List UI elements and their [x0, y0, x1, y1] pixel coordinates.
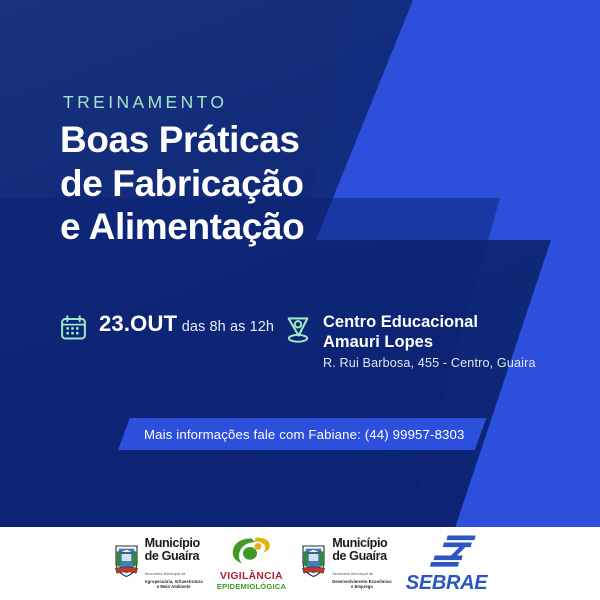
- venue-name: Centro Educacional Amauri Lopes: [323, 312, 536, 352]
- sponsor-logo-footer: Município de Guaíra Secretaria Municipal…: [0, 527, 600, 600]
- venue-address: R. Rui Barbosa, 455 - Centro, Guaira: [323, 356, 536, 370]
- logo-sebrae: SEBRAE: [406, 534, 488, 593]
- coat-of-arms-icon: [300, 543, 327, 584]
- logo-municipio-desenvolvimento-text: Município de Guaíra Secretaria Municipal…: [332, 537, 392, 589]
- logo-subtitle-bold-line-2: e Meio Ambiente: [145, 584, 203, 589]
- headline-line-3: e Alimentação: [60, 205, 480, 249]
- logo-vigilancia-word-1: VIGILÂNCIA: [220, 572, 283, 582]
- logo-subtitle-bold-line-2: e Emprego: [332, 584, 392, 589]
- headline-line-2: de Fabricação: [60, 162, 480, 206]
- map-pin-icon: [285, 314, 311, 350]
- event-date-block: 23.OUT das 8h as 12h: [60, 312, 285, 346]
- logo-municipio-agropecuaria-text: Município de Guaíra Secretaria Municipal…: [145, 537, 203, 589]
- event-location-block: Centro Educacional Amauri Lopes R. Rui B…: [285, 312, 536, 372]
- logo-sebrae-word: SEBRAE: [406, 573, 488, 593]
- event-location-text: Centro Educacional Amauri Lopes R. Rui B…: [323, 312, 536, 372]
- logo-title: Município de Guaíra: [332, 537, 392, 563]
- event-details-row: 23.OUT das 8h as 12h Centro Educacional: [60, 312, 560, 372]
- venue-name-line-2: Amauri Lopes: [323, 332, 536, 352]
- logo-vigilancia-word-2: EPIDEMIOLÓGICA: [217, 583, 286, 591]
- logo-municipio-agropecuaria: Município de Guaíra Secretaria Municipal…: [113, 537, 203, 589]
- logo-subtitle-bold: Desenvolvimento Econômico e Emprego: [332, 579, 392, 590]
- logo-title: Município de Guaíra: [145, 537, 203, 563]
- poster-canvas: TREINAMENTO Boas Práticas de Fabricação …: [0, 0, 600, 600]
- contact-banner-text: Mais informações fale com Fabiane: (44) …: [144, 427, 465, 442]
- event-date-value: 23.OUT: [99, 311, 177, 336]
- headline-line-1: Boas Práticas: [60, 118, 480, 162]
- poster-content: TREINAMENTO Boas Práticas de Fabricação …: [0, 0, 600, 600]
- page-title: Boas Práticas de Fabricação e Alimentaçã…: [60, 118, 480, 249]
- logo-subtitle-small: Secretaria Municipal de: [145, 572, 186, 576]
- logo-municipio-desenvolvimento: Município de Guaíra Secretaria Municipal…: [300, 537, 392, 589]
- sebrae-bars-icon: [414, 534, 480, 573]
- contact-banner: Mais informações fale com Fabiane: (44) …: [118, 418, 487, 450]
- logo-title-line-2: de Guaíra: [332, 550, 392, 563]
- coat-of-arms-icon: [113, 543, 140, 584]
- venue-name-line-1: Centro Educacional: [323, 312, 536, 332]
- logo-vigilancia-epidemiologica: VIGILÂNCIA EPIDEMIOLÓGICA: [217, 536, 286, 591]
- event-time-value: das 8h as 12h: [182, 319, 274, 335]
- event-date-text: 23.OUT das 8h as 12h: [99, 312, 274, 336]
- vigilancia-swoosh-icon: [228, 536, 274, 571]
- logo-subtitle-bold: Agropecuária, Infraestrutura e Meio Ambi…: [145, 579, 203, 590]
- eyebrow-label: TREINAMENTO: [63, 92, 227, 113]
- logo-title-line-2: de Guaíra: [145, 550, 203, 563]
- logo-subtitle-small: Secretaria Municipal de: [332, 572, 373, 576]
- calendar-icon: [60, 314, 87, 346]
